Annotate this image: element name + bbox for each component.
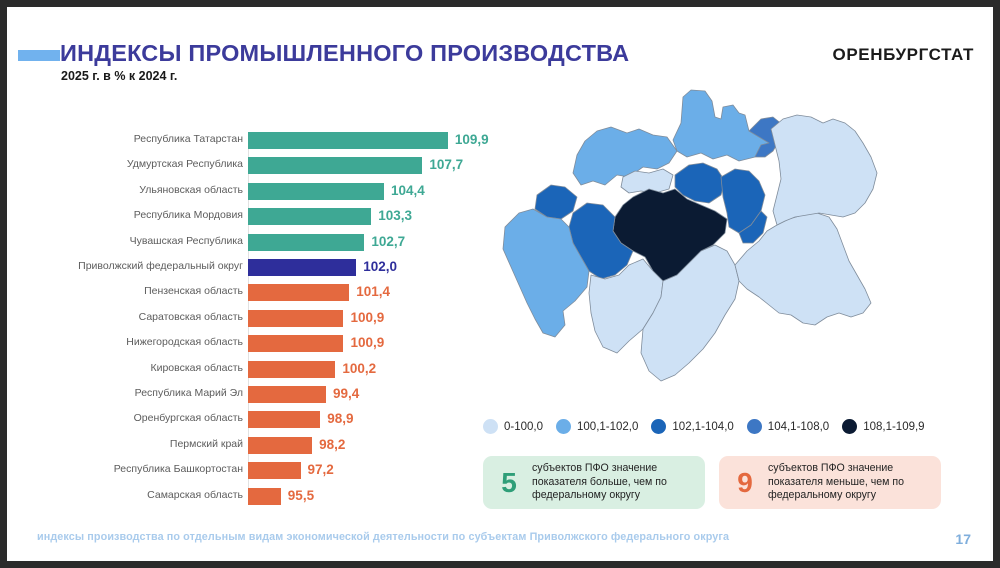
legend-item[interactable]: 0-100,0 [483,419,543,434]
chart-value-label: 100,2 [342,361,376,376]
chart-bar[interactable] [248,234,364,251]
chart-bar[interactable] [248,284,349,301]
page-subtitle: 2025 г. в % к 2024 г. [61,69,177,83]
legend-item[interactable]: 104,1-108,0 [747,419,829,434]
legend-color-swatch [483,419,498,434]
legend-color-swatch [651,419,666,434]
slide-canvas: ИНДЕКСЫ ПРОМЫШЛЕННОГО ПРОИЗВОДСТВА 2025 … [7,7,993,561]
chart-category-label: Республика Мордовия [134,209,243,221]
callout-below-number: 9 [730,467,760,499]
chart-row: Самарская область95,5 [17,488,467,505]
chart-bar[interactable] [248,259,356,276]
chart-value-label: 103,3 [378,208,412,223]
chart-value-label: 98,2 [319,437,345,452]
chart-row: Республика Татарстан109,9 [17,132,467,149]
chart-bar[interactable] [248,488,281,505]
chart-bar[interactable] [248,462,301,479]
chart-value-label: 95,5 [288,488,314,503]
chart-value-label: 97,2 [308,462,334,477]
bar-chart: Республика Татарстан109,9Удмуртская Респ… [17,129,467,512]
legend-label: 100,1-102,0 [577,421,638,433]
chart-category-label: Удмуртская Республика [127,158,243,170]
chart-category-label: Самарская область [147,489,243,501]
chart-value-label: 101,4 [356,284,390,299]
callout-below-text: субъектов ПФО значение показателя меньше… [768,462,930,504]
legend-item[interactable]: 100,1-102,0 [556,419,638,434]
brand-logo: ОРЕНБУРГСТАТ [833,45,974,65]
chart-category-label: Республика Башкортостан [114,463,243,475]
chart-bar[interactable] [248,411,320,428]
chart-value-label: 104,4 [391,183,425,198]
chart-bar[interactable] [248,132,448,149]
legend-label: 104,1-108,0 [768,421,829,433]
chart-row: Саратовская область100,9 [17,310,467,327]
footer-caption: индексы производства по отдельным видам … [37,531,729,543]
chart-category-label: Чувашская Республика [130,235,243,247]
chart-category-label: Республика Татарстан [134,133,243,145]
chart-bar[interactable] [248,361,335,378]
chart-row: Республика Мордовия103,3 [17,208,467,225]
legend-color-swatch [747,419,762,434]
callout-above-average: 5 субъектов ПФО значение показателя боль… [483,456,705,509]
chart-value-label: 99,4 [333,386,359,401]
chart-bar[interactable] [248,386,326,403]
chart-category-label: Республика Марий Эл [135,387,243,399]
chart-category-label: Кировская область [150,362,243,374]
title-accent-bar [18,50,60,61]
chart-category-label: Оренбургская область [134,412,243,424]
chart-bar[interactable] [248,157,422,174]
chart-category-label: Ульяновская область [139,184,243,196]
page-number: 17 [955,531,971,547]
chart-bar[interactable] [248,208,371,225]
callout-above-text: субъектов ПФО значение показателя больше… [532,462,694,504]
chart-value-label: 100,9 [350,310,384,325]
chart-row: Удмуртская Республика107,7 [17,157,467,174]
chart-value-label: 102,0 [363,259,397,274]
chart-value-label: 98,9 [327,411,353,426]
chart-row: Оренбургская область98,9 [17,411,467,428]
chart-value-label: 100,9 [350,335,384,350]
legend-label: 108,1-109,9 [863,421,924,433]
map-region-samara[interactable] [771,115,877,225]
chart-bar[interactable] [248,335,343,352]
callout-below-average: 9 субъектов ПФО значение показателя мень… [719,456,941,509]
chart-category-label: Пензенская область [144,285,243,297]
callout-above-number: 5 [494,467,524,499]
choropleth-map [477,85,937,415]
chart-row: Чувашская Республика102,7 [17,234,467,251]
chart-row: Кировская область100,2 [17,361,467,378]
legend-color-swatch [842,419,857,434]
legend-item[interactable]: 102,1-104,0 [651,419,733,434]
legend-item[interactable]: 108,1-109,9 [842,419,924,434]
page-title: ИНДЕКСЫ ПРОМЫШЛЕННОГО ПРОИЗВОДСТВА [60,40,629,67]
chart-row: Пермский край98,2 [17,437,467,454]
chart-bar[interactable] [248,437,312,454]
chart-value-label: 102,7 [371,234,405,249]
chart-category-label: Саратовская область [139,311,243,323]
chart-row: Республика Марий Эл99,4 [17,386,467,403]
chart-row: Ульяновская область104,4 [17,183,467,200]
chart-row: Приволжский федеральный округ102,0 [17,259,467,276]
legend-color-swatch [556,419,571,434]
legend-label: 0-100,0 [504,421,543,433]
chart-category-label: Нижегородская область [126,336,243,348]
chart-row: Пензенская область101,4 [17,284,467,301]
chart-bar[interactable] [248,183,384,200]
chart-row: Республика Башкортостан97,2 [17,462,467,479]
chart-category-label: Приволжский федеральный округ [78,260,243,272]
chart-value-label: 107,7 [429,157,463,172]
chart-row: Нижегородская область100,9 [17,335,467,352]
legend-label: 102,1-104,0 [672,421,733,433]
chart-bar[interactable] [248,310,343,327]
chart-category-label: Пермский край [170,438,243,450]
map-legend: 0-100,0100,1-102,0102,1-104,0104,1-108,0… [483,419,925,434]
